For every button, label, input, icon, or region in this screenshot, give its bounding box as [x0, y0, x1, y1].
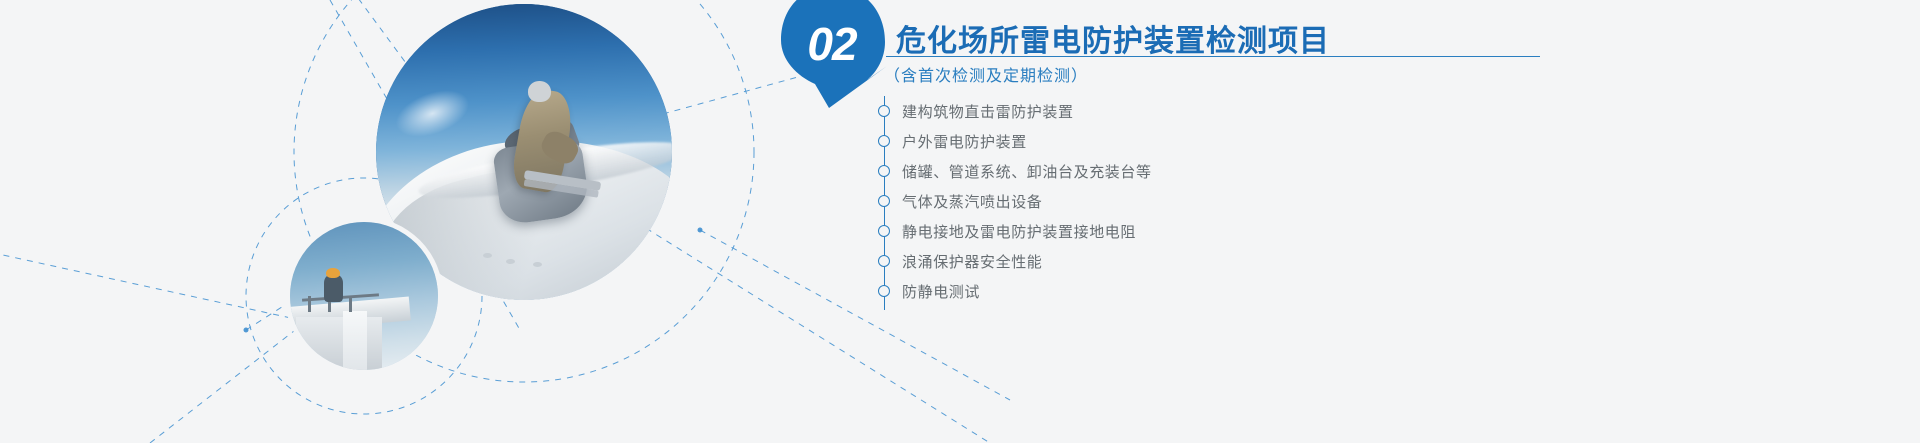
list-item[interactable]: 防静电测试	[876, 276, 1496, 306]
bullet-circle-icon	[878, 165, 890, 177]
photo-person	[324, 275, 343, 302]
list-item[interactable]: 浪涌保护器安全性能	[876, 246, 1496, 276]
bullet-circle-icon	[878, 105, 890, 117]
bullet-circle-icon	[878, 225, 890, 237]
list-item[interactable]: 户外雷电防护装置	[876, 126, 1496, 156]
photo-wall	[296, 317, 382, 370]
list-item-label: 气体及蒸汽喷出设备	[902, 191, 1042, 212]
page-title: 危化场所雷电防护装置检测项目	[896, 16, 1330, 60]
title-divider	[886, 56, 1540, 57]
list-item-label: 防静电测试	[902, 281, 980, 302]
list-item-label: 静电接地及雷电防护装置接地电阻	[902, 221, 1136, 242]
bullet-circle-icon	[878, 255, 890, 267]
page-subtitle: （含首次检测及定期检测）	[884, 62, 1088, 86]
section-number-badge: 02	[779, 0, 897, 108]
secondary-photo	[290, 222, 438, 370]
list-item-label: 建构筑物直击雷防护装置	[902, 101, 1074, 122]
photo-person-helmet	[326, 268, 339, 278]
bullet-circle-icon	[878, 135, 890, 147]
photo-bolt	[483, 253, 492, 258]
list-item[interactable]: 气体及蒸汽喷出设备	[876, 186, 1496, 216]
list-item[interactable]: 储罐、管道系统、卸油台及充装台等	[876, 156, 1496, 186]
section-number: 02	[779, 0, 885, 92]
photo-railing-post	[308, 296, 311, 312]
list-item-label: 户外雷电防护装置	[902, 131, 1027, 152]
list-item-label: 浪涌保护器安全性能	[902, 251, 1042, 272]
list-item[interactable]: 静电接地及雷电防护装置接地电阻	[876, 216, 1496, 246]
bullet-circle-icon	[878, 285, 890, 297]
banner-section: 02 危化场所雷电防护装置检测项目 （含首次检测及定期检测） 建构筑物直击雷防护…	[0, 0, 1920, 443]
photo-bolt	[533, 262, 542, 267]
photo-railing-post	[349, 296, 352, 312]
list-item-label: 储罐、管道系统、卸油台及充装台等	[902, 161, 1152, 182]
list-item[interactable]: 建构筑物直击雷防护装置	[876, 96, 1496, 126]
bullet-circle-icon	[878, 195, 890, 207]
service-item-list: 建构筑物直击雷防护装置 户外雷电防护装置 储罐、管道系统、卸油台及充装台等 气体…	[876, 96, 1496, 306]
photo-wall	[343, 311, 367, 370]
photo-bolt	[506, 259, 515, 264]
photo-worker-helmet	[528, 81, 550, 102]
